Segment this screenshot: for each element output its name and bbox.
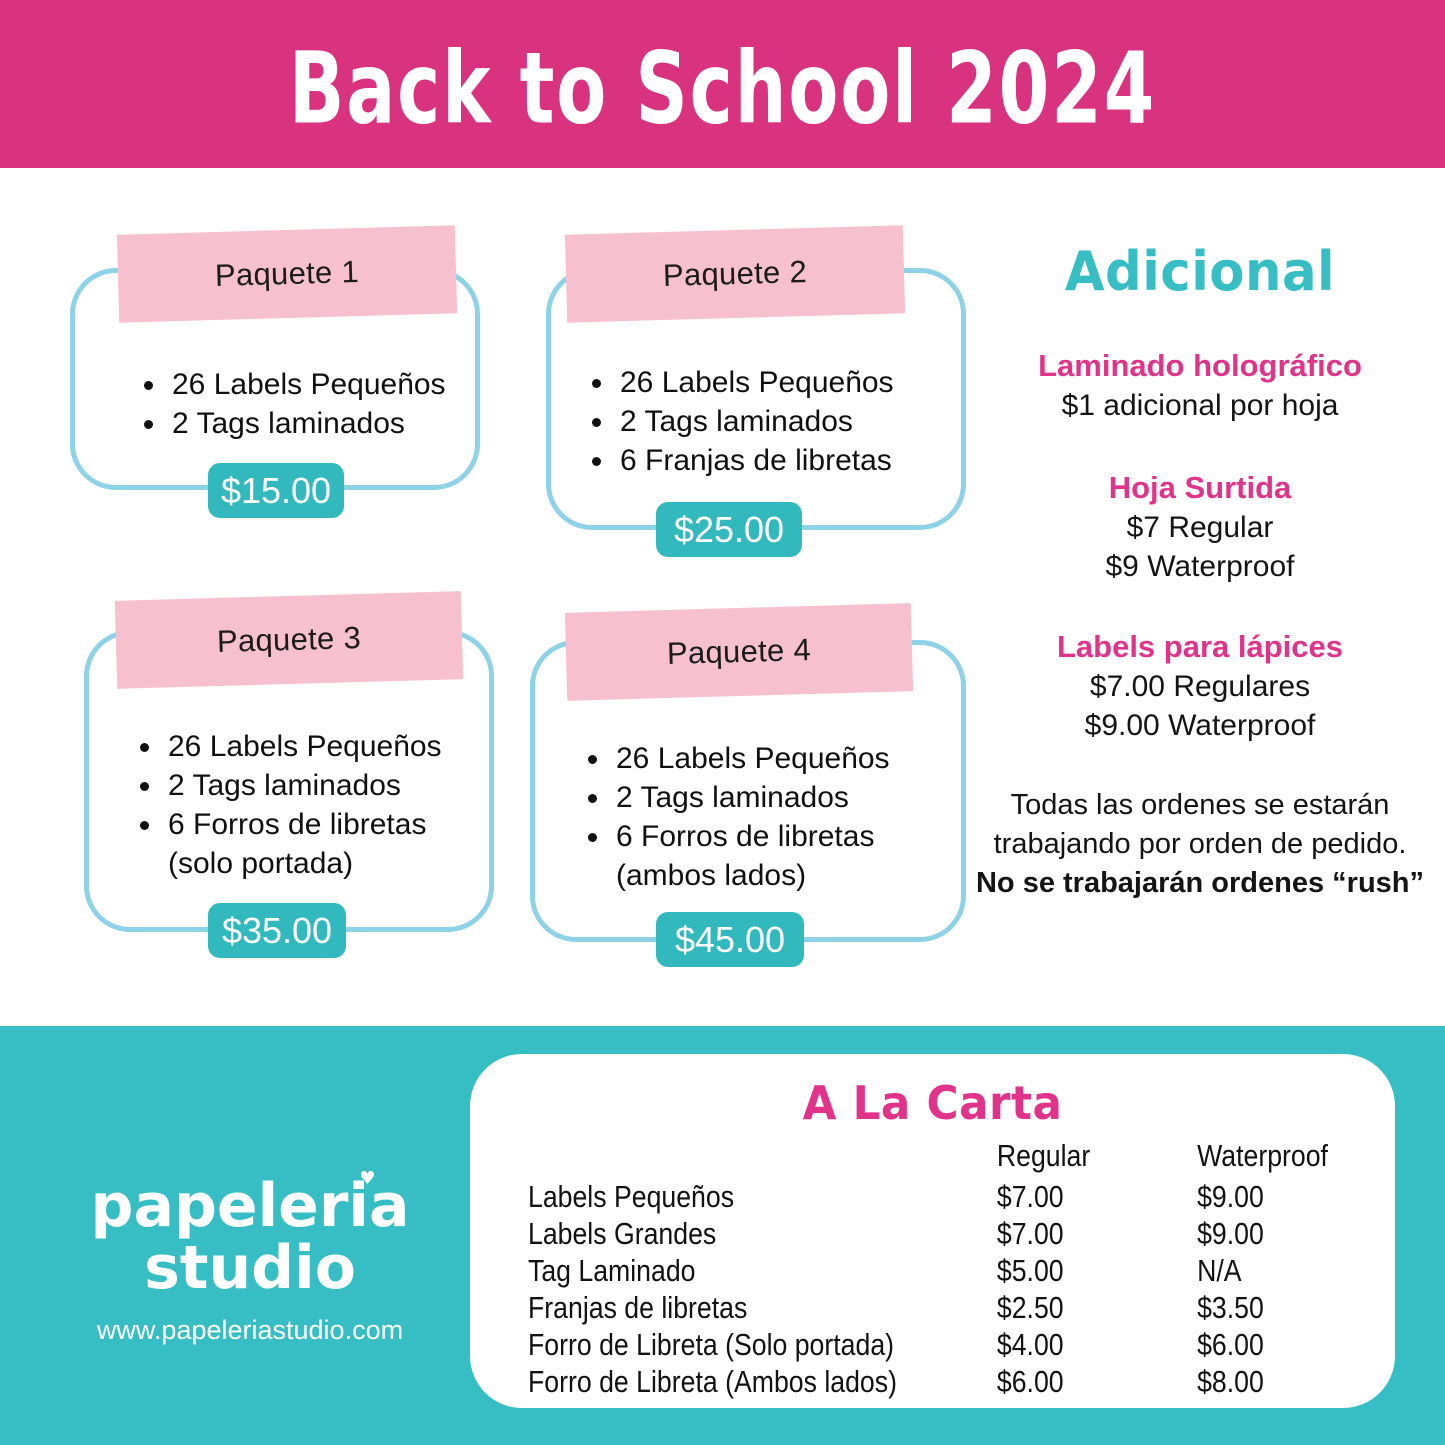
list-item: 2 Tags laminados xyxy=(584,779,890,817)
bullet-icon xyxy=(140,743,149,752)
list-item: 2 Tags laminados xyxy=(140,405,446,443)
cell-regular: $2.50 xyxy=(990,1289,1148,1326)
package-name-2: Paquete 2 xyxy=(565,225,905,322)
page-title: Back to School 2024 xyxy=(58,26,1387,151)
bullet-icon xyxy=(144,420,153,429)
price-badge-3: $35.00 xyxy=(208,903,346,958)
cell-waterproof: $3.50 xyxy=(1173,1289,1332,1326)
item-text: (solo portada) xyxy=(168,847,353,880)
brand-url: www.papeleriastudio.com xyxy=(40,1314,460,1346)
brand-line1: papeleria ♥ xyxy=(91,1176,410,1236)
price-badge-1: $15.00 xyxy=(208,463,344,518)
bullet-icon xyxy=(588,794,597,803)
poster-canvas: Back to School 2024 Paquete 1 26 Labels … xyxy=(0,0,1445,1445)
brand-logo: papeleria ♥ studio www.papeleriastudio.c… xyxy=(40,1176,460,1346)
cell-item: Tag Laminado xyxy=(528,1252,925,1289)
package-name-3: Paquete 3 xyxy=(115,591,463,689)
heart-icon: ♥ xyxy=(359,1170,375,1188)
table-row: Labels Pequeños $7.00 $9.00 xyxy=(528,1178,1358,1215)
bullet-icon xyxy=(588,755,597,764)
list-item: 26 Labels Pequeños xyxy=(136,728,442,766)
adicional-line: $9 Waterproof xyxy=(975,547,1425,586)
list-item-continuation: (ambos lados) xyxy=(584,857,890,895)
adicional-block-laminado: Laminado holográfico $1 adicional por ho… xyxy=(975,346,1425,425)
cell-waterproof: N/A xyxy=(1173,1252,1332,1289)
washi-tape-1: Paquete 1 xyxy=(117,225,457,322)
item-text: 2 Tags laminados xyxy=(620,405,853,438)
cell-waterproof: $8.00 xyxy=(1173,1363,1332,1400)
bullet-icon xyxy=(592,379,601,388)
cell-regular: $5.00 xyxy=(990,1252,1148,1289)
adicional-line: $1 adicional por hoja xyxy=(975,386,1425,425)
package-items-2: 26 Labels Pequeños 2 Tags laminados 6 Fr… xyxy=(588,364,894,481)
price-badge-4: $45.00 xyxy=(656,912,804,967)
table-row: Forro de Libreta (Ambos lados) $6.00 $8.… xyxy=(528,1363,1358,1400)
package-name-4: Paquete 4 xyxy=(565,603,913,701)
price-badge-2: $25.00 xyxy=(656,502,802,557)
item-text: 26 Labels Pequeños xyxy=(172,368,446,401)
cell-item: Labels Grandes xyxy=(528,1215,925,1252)
bullet-icon xyxy=(144,381,153,390)
adicional-line: $9.00 Waterproof xyxy=(975,706,1425,745)
list-item: 26 Labels Pequeños xyxy=(140,366,446,404)
list-item: 2 Tags laminados xyxy=(588,403,894,441)
item-text: 26 Labels Pequeños xyxy=(620,366,894,399)
col-header-waterproof: Waterproof xyxy=(1173,1134,1332,1178)
brand-line1-wrap: papeleria ♥ xyxy=(40,1176,460,1236)
cell-item: Forro de Libreta (Solo portada) xyxy=(528,1326,925,1363)
adicional-title: Adicional xyxy=(1010,240,1390,303)
item-text: 2 Tags laminados xyxy=(168,769,401,802)
package-name-1: Paquete 1 xyxy=(117,225,457,322)
cell-regular: $7.00 xyxy=(990,1178,1148,1215)
a-la-carta-card: A La Carta Regular Waterproof Labels Peq… xyxy=(470,1054,1395,1408)
list-item: 6 Forros de libretas xyxy=(136,806,442,844)
item-text: 2 Tags laminados xyxy=(172,407,405,440)
item-text: (ambos lados) xyxy=(616,859,806,892)
list-item: 2 Tags laminados xyxy=(136,767,442,805)
washi-tape-2: Paquete 2 xyxy=(565,225,905,322)
cell-item: Forro de Libreta (Ambos lados) xyxy=(528,1363,925,1400)
list-item-continuation: (solo portada) xyxy=(136,845,442,883)
table-row: Tag Laminado $5.00 N/A xyxy=(528,1252,1358,1289)
item-text: 6 Franjas de libretas xyxy=(620,444,892,477)
table-row: Franjas de libretas $2.50 $3.50 xyxy=(528,1289,1358,1326)
list-item: 26 Labels Pequeños xyxy=(588,364,894,402)
bullet-icon xyxy=(140,782,149,791)
cell-item: Franjas de libretas xyxy=(528,1289,925,1326)
table-header-row: Regular Waterproof xyxy=(528,1134,1358,1178)
a-la-carta-title: A La Carta xyxy=(493,1076,1372,1130)
package-items-3: 26 Labels Pequeños 2 Tags laminados 6 Fo… xyxy=(136,728,442,884)
adicional-line: $7.00 Regulares xyxy=(975,667,1425,706)
adicional-block-hoja-surtida: Hoja Surtida $7 Regular $9 Waterproof xyxy=(975,468,1425,586)
adicional-line: $7 Regular xyxy=(975,508,1425,547)
adicional-heading: Labels para lápices xyxy=(975,627,1425,667)
list-item: 6 Franjas de libretas xyxy=(588,442,894,480)
cell-waterproof: $9.00 xyxy=(1173,1178,1332,1215)
table-body: Labels Pequeños $7.00 $9.00 Labels Grand… xyxy=(528,1178,1358,1400)
washi-tape-4: Paquete 4 xyxy=(565,603,913,701)
item-text: 2 Tags laminados xyxy=(616,781,849,814)
table-head: Regular Waterproof xyxy=(528,1134,1358,1178)
cell-waterproof: $9.00 xyxy=(1173,1215,1332,1252)
list-item: 6 Forros de libretas xyxy=(584,818,890,856)
package-items-4: 26 Labels Pequeños 2 Tags laminados 6 Fo… xyxy=(584,740,890,896)
order-note: Todas las ordenes se estarán trabajando … xyxy=(975,786,1425,903)
bullet-icon xyxy=(592,418,601,427)
brand-line2: studio xyxy=(40,1236,460,1300)
cell-regular: $6.00 xyxy=(990,1363,1148,1400)
adicional-heading: Hoja Surtida xyxy=(975,468,1425,508)
col-header-regular: Regular xyxy=(990,1134,1148,1178)
package-items-1: 26 Labels Pequeños 2 Tags laminados xyxy=(140,366,446,444)
washi-tape-3: Paquete 3 xyxy=(115,591,463,689)
item-text: 26 Labels Pequeños xyxy=(616,742,890,775)
bullet-icon xyxy=(140,821,149,830)
cell-regular: $7.00 xyxy=(990,1215,1148,1252)
order-note-plain: Todas las ordenes se estarán trabajando … xyxy=(994,789,1407,860)
cell-waterproof: $6.00 xyxy=(1173,1326,1332,1363)
item-text: 6 Forros de libretas xyxy=(616,820,874,853)
table-row: Labels Grandes $7.00 $9.00 xyxy=(528,1215,1358,1252)
cell-item: Labels Pequeños xyxy=(528,1178,925,1215)
adicional-heading: Laminado holográfico xyxy=(975,346,1425,386)
cell-regular: $4.00 xyxy=(990,1326,1148,1363)
col-header-item xyxy=(528,1134,925,1178)
table-row: Forro de Libreta (Solo portada) $4.00 $6… xyxy=(528,1326,1358,1363)
item-text: 26 Labels Pequeños xyxy=(168,730,442,763)
order-note-bold: No se trabajarán ordenes “rush” xyxy=(976,867,1424,899)
item-text: 6 Forros de libretas xyxy=(168,808,426,841)
bullet-icon xyxy=(592,457,601,466)
list-item: 26 Labels Pequeños xyxy=(584,740,890,778)
bullet-icon xyxy=(588,833,597,842)
a-la-carta-table: Regular Waterproof Labels Pequeños $7.00… xyxy=(528,1134,1358,1400)
adicional-block-labels-lapices: Labels para lápices $7.00 Regulares $9.0… xyxy=(975,627,1425,745)
